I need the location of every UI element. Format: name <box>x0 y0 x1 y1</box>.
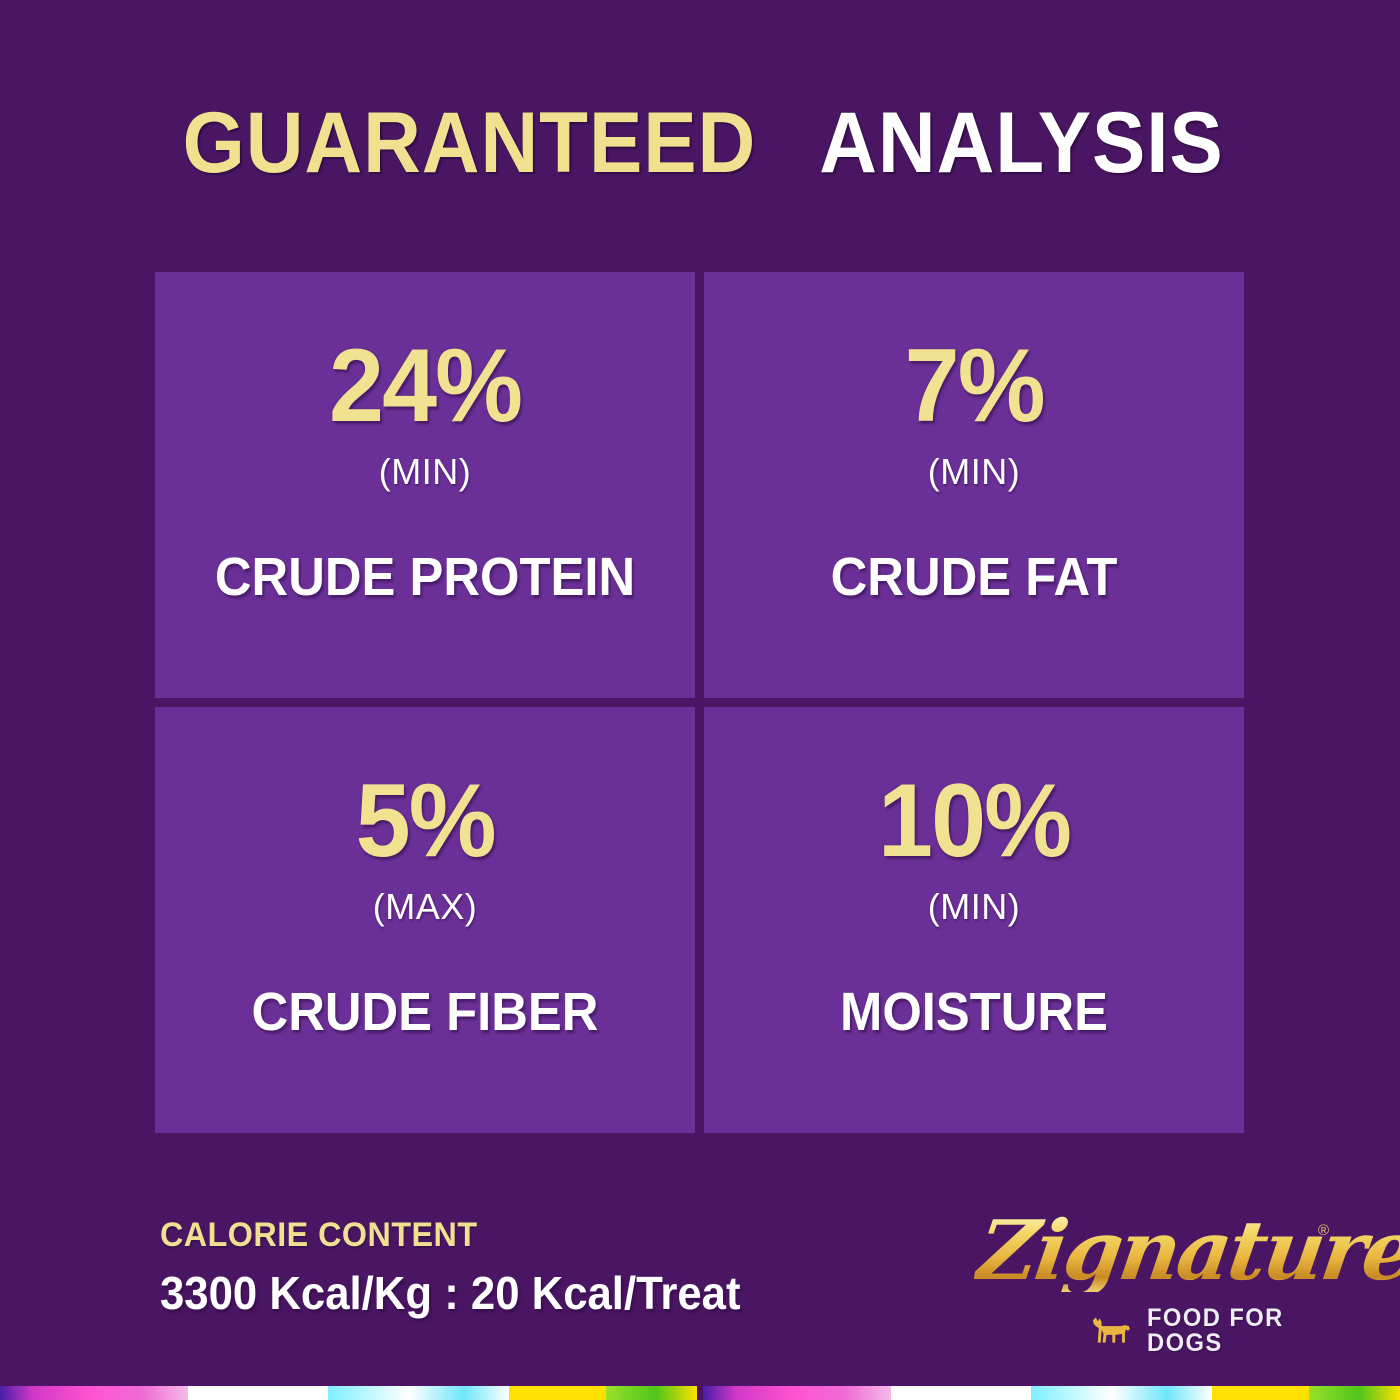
strip-segment-white <box>188 1386 327 1400</box>
trademark-symbol: ® <box>1318 1222 1329 1239</box>
nutrient-label: CRUDE PROTEIN <box>171 550 679 604</box>
calorie-content-block: CALORIE CONTENT 3300 Kcal/Kg : 20 Kcal/T… <box>160 1218 771 1316</box>
page-title: GUARANTEEDANALYSIS <box>0 98 1400 188</box>
brand-tagline-row: FOOD FOR DOGS <box>1090 1306 1372 1356</box>
color-strip-half-left <box>0 1386 697 1400</box>
analysis-cell-crude-fiber: 5% (MAX) CRUDE FIBER <box>155 707 695 1133</box>
strip-segment-cyan <box>1031 1386 1212 1400</box>
nutrient-qualifier: (MIN) <box>928 454 1020 490</box>
brand-logo: Zignature ® FOOD FOR DOGS <box>972 1210 1372 1360</box>
analysis-cell-crude-protein: 24% (MIN) CRUDE PROTEIN <box>155 272 695 698</box>
guaranteed-analysis-panel: GUARANTEEDANALYSIS 24% (MIN) CRUDE PROTE… <box>0 0 1400 1400</box>
nutrient-value: 7% <box>905 334 1044 438</box>
nutrient-label: CRUDE FIBER <box>171 985 679 1039</box>
nutrient-qualifier: (MIN) <box>379 454 471 490</box>
strip-segment-yellow <box>509 1386 607 1400</box>
title-word-analysis: ANALYSIS <box>819 98 1223 188</box>
nutrient-label: CRUDE FAT <box>720 550 1228 604</box>
nutrient-value: 24% <box>329 334 521 438</box>
footer: CALORIE CONTENT 3300 Kcal/Kg : 20 Kcal/T… <box>0 1218 1400 1368</box>
calorie-content-value: 3300 Kcal/Kg : 20 Kcal/Treat <box>160 1270 741 1316</box>
color-strip-half-right <box>703 1386 1400 1400</box>
brand-wordmark: Zignature <box>972 1210 1400 1292</box>
nutrient-qualifier: (MAX) <box>373 889 478 925</box>
nutrient-value: 10% <box>878 769 1070 873</box>
strip-segment-cyan <box>328 1386 509 1400</box>
nutrient-label: MOISTURE <box>720 985 1228 1039</box>
analysis-cell-moisture: 10% (MIN) MOISTURE <box>704 707 1244 1133</box>
title-word-guaranteed: GUARANTEED <box>183 98 757 188</box>
strip-segment-yellow <box>1212 1386 1310 1400</box>
strip-segment-green <box>1309 1386 1400 1400</box>
analysis-grid: 24% (MIN) CRUDE PROTEIN 7% (MIN) CRUDE F… <box>155 272 1244 1133</box>
strip-segment-white <box>891 1386 1030 1400</box>
bottom-color-strip <box>0 1386 1400 1400</box>
strip-segment-magenta <box>703 1386 891 1400</box>
calorie-content-heading: CALORIE CONTENT <box>160 1218 741 1252</box>
analysis-cell-crude-fat: 7% (MIN) CRUDE FAT <box>704 272 1244 698</box>
strip-segment-green <box>606 1386 697 1400</box>
brand-tagline: FOOD FOR DOGS <box>1147 1306 1361 1356</box>
strip-segment-magenta <box>0 1386 188 1400</box>
nutrient-qualifier: (MIN) <box>928 889 1020 925</box>
dog-icon <box>1090 1316 1135 1346</box>
nutrient-value: 5% <box>356 769 495 873</box>
